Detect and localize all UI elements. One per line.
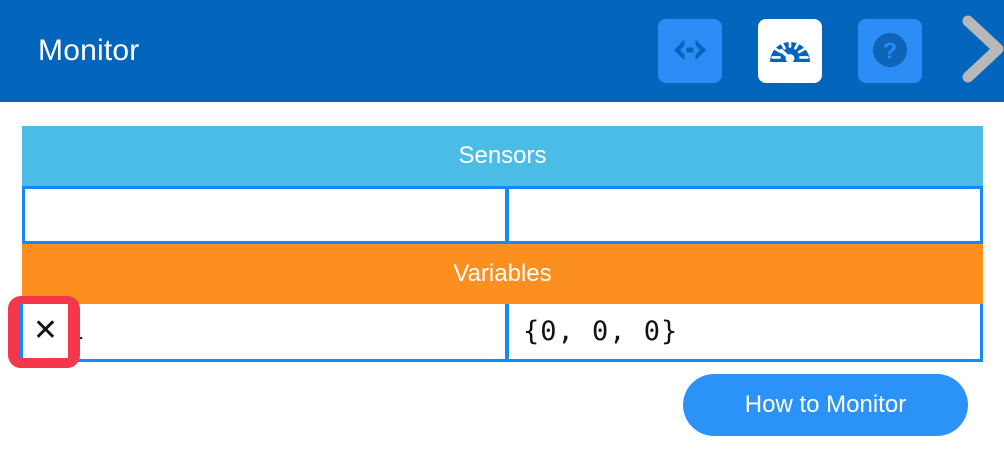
gauge-icon xyxy=(768,32,812,71)
sensor-name-cell[interactable] xyxy=(25,189,505,241)
variable-name-cell[interactable]: list1 xyxy=(25,304,505,359)
variable-value-cell[interactable]: {0, 0, 0} xyxy=(505,304,980,359)
app-header-bar: Monitor xyxy=(0,0,1004,102)
next-page-button[interactable] xyxy=(958,16,1004,86)
svg-text:?: ? xyxy=(883,37,897,63)
how-to-monitor-button[interactable]: How to Monitor xyxy=(683,374,968,436)
table-row[interactable]: list1 {0, 0, 0} xyxy=(22,304,983,362)
sensors-section-header: Sensors xyxy=(22,126,983,186)
header-actions: ? xyxy=(658,0,1004,102)
delete-variable-button[interactable]: ✕ xyxy=(20,304,68,358)
monitor-table: Sensors Variables list1 {0, 0, 0} xyxy=(22,126,983,362)
close-icon: ✕ xyxy=(33,316,58,346)
variables-section-header: Variables xyxy=(22,244,983,304)
help-icon: ? xyxy=(870,30,910,73)
sensors-row[interactable] xyxy=(22,186,983,244)
code-view-button[interactable] xyxy=(658,19,722,83)
chevron-right-icon xyxy=(958,15,1004,88)
sensor-value-cell[interactable] xyxy=(505,189,980,241)
page-title: Monitor xyxy=(38,36,139,66)
monitor-gauge-button[interactable] xyxy=(758,19,822,83)
help-button[interactable]: ? xyxy=(858,19,922,83)
code-icon xyxy=(671,36,709,67)
